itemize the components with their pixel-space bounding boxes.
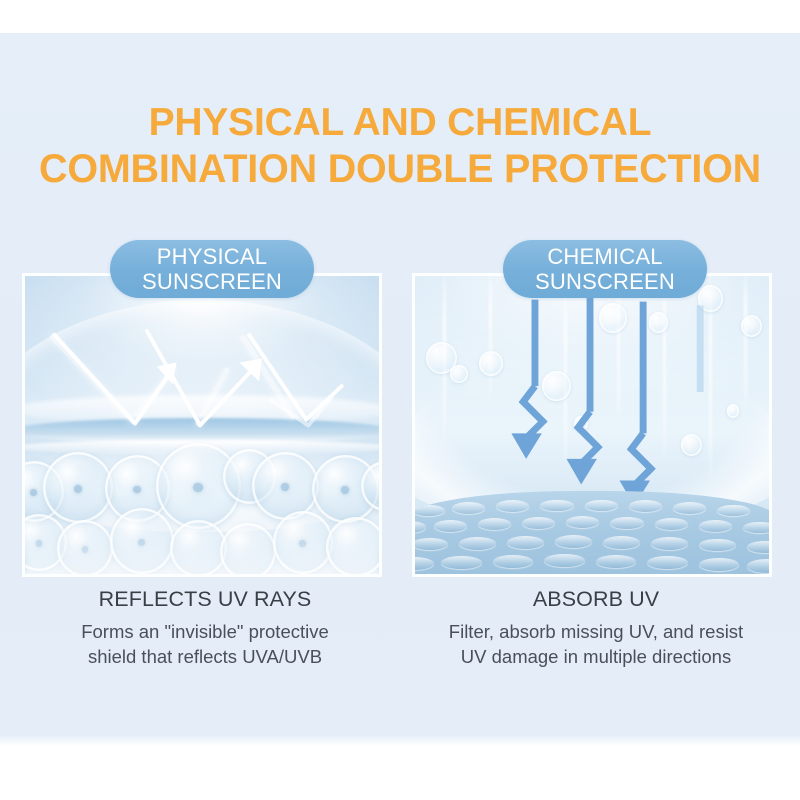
panel-physical bbox=[22, 273, 382, 577]
skin-scale bbox=[585, 500, 618, 512]
skin-scale bbox=[747, 559, 769, 572]
skin-scale bbox=[673, 502, 706, 514]
skin-scale bbox=[507, 536, 544, 549]
skin-scale bbox=[566, 516, 599, 528]
badge-physical-line-1: PHYSICAL bbox=[157, 244, 267, 269]
badge-physical-line-2: SUNSCREEN bbox=[142, 269, 282, 294]
skin-scale bbox=[655, 518, 688, 530]
skin-scale bbox=[747, 541, 769, 554]
skin-scale bbox=[717, 505, 750, 517]
skin-scale bbox=[596, 555, 636, 568]
caption-chemical-heading: ABSORB UV bbox=[396, 586, 796, 612]
skin-scale bbox=[493, 555, 533, 568]
skin-surface-texture bbox=[415, 491, 769, 574]
skin-scale bbox=[647, 556, 687, 569]
caption-chemical-body: Filter, absorb missing UV, and resist UV… bbox=[396, 619, 796, 669]
chemical-sunscreen-illustration bbox=[415, 276, 769, 574]
skin-scale bbox=[699, 558, 739, 571]
skin-scale bbox=[544, 554, 584, 567]
caption-physical-body-line-2: shield that reflects UVA/UVB bbox=[5, 644, 405, 669]
caption-chemical: ABSORB UV Filter, absorb missing UV, and… bbox=[396, 586, 796, 669]
skin-scale bbox=[441, 556, 481, 569]
skin-scale bbox=[415, 505, 445, 517]
skin-scale bbox=[415, 521, 426, 533]
skin-scale bbox=[629, 500, 662, 512]
sunscreen-bubble bbox=[252, 452, 319, 521]
skin-scale bbox=[699, 520, 732, 532]
badge-chemical-line-2: SUNSCREEN bbox=[535, 269, 675, 294]
skin-scale bbox=[415, 557, 434, 570]
badge-physical-sunscreen: PHYSICAL SUNSCREEN bbox=[110, 240, 314, 298]
skin-scale bbox=[610, 517, 643, 529]
caption-physical: REFLECTS UV RAYS Forms an "invisible" pr… bbox=[5, 586, 405, 669]
skin-scale bbox=[651, 537, 688, 550]
skin-scale bbox=[434, 520, 467, 532]
skin-scale bbox=[603, 536, 640, 549]
skin-scale bbox=[540, 500, 573, 512]
panel-row bbox=[22, 273, 785, 577]
panel-chemical bbox=[412, 273, 772, 577]
title-line-1: PHYSICAL AND CHEMICAL bbox=[0, 100, 800, 146]
skin-scale bbox=[699, 539, 736, 552]
skin-scale bbox=[496, 500, 529, 512]
title-line-2: COMBINATION DOUBLE PROTECTION bbox=[0, 146, 800, 192]
physical-sunscreen-illustration bbox=[25, 276, 379, 574]
caption-chemical-body-line-1: Filter, absorb missing UV, and resist bbox=[396, 619, 796, 644]
badge-chemical-sunscreen: CHEMICAL SUNSCREEN bbox=[503, 240, 707, 298]
bubble-foam-highlight bbox=[25, 520, 379, 574]
skin-scale bbox=[415, 538, 448, 551]
skin-scale bbox=[478, 518, 511, 530]
product-infographic: PHYSICAL AND CHEMICAL COMBINATION DOUBLE… bbox=[0, 0, 800, 800]
skin-scale bbox=[743, 522, 769, 534]
badge-chemical-line-1: CHEMICAL bbox=[547, 244, 662, 269]
page-title: PHYSICAL AND CHEMICAL COMBINATION DOUBLE… bbox=[0, 100, 800, 192]
caption-chemical-body-line-2: UV damage in multiple directions bbox=[396, 644, 796, 669]
skin-scale bbox=[555, 535, 592, 548]
caption-physical-body-line-1: Forms an "invisible" protective bbox=[5, 619, 405, 644]
caption-physical-heading: REFLECTS UV RAYS bbox=[5, 586, 405, 612]
caption-physical-body: Forms an "invisible" protective shield t… bbox=[5, 619, 405, 669]
skin-scale bbox=[452, 502, 485, 514]
skin-scale bbox=[459, 537, 496, 550]
skin-scale bbox=[522, 517, 555, 529]
